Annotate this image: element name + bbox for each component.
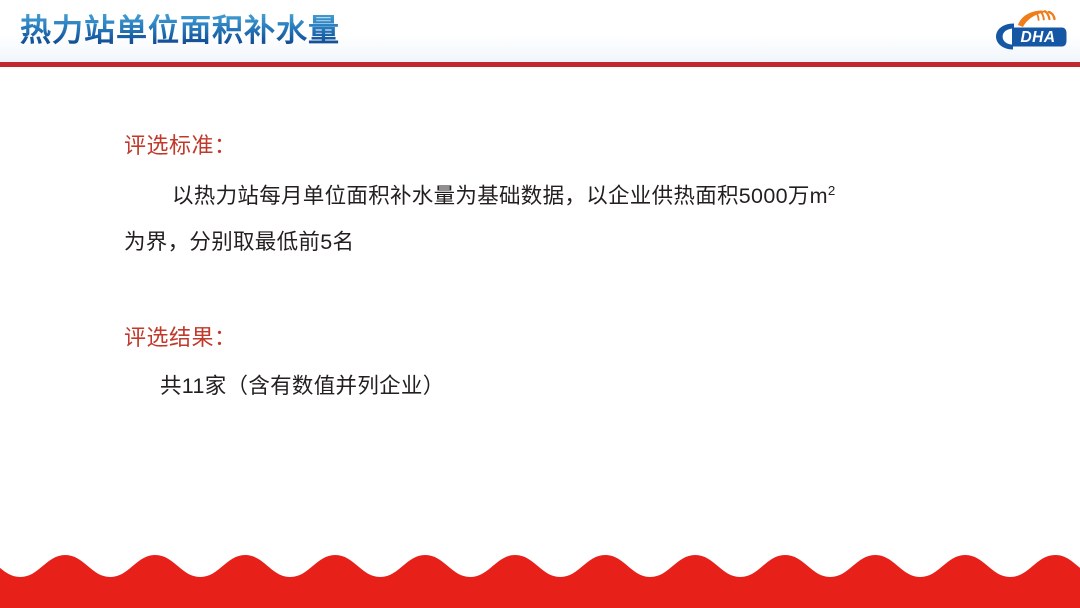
slide-body: 评选标准： 以热力站每月单位面积补水量为基础数据，以企业供热面积5000万m2为… — [0, 63, 1080, 543]
result-heading: 评选结果： — [124, 320, 237, 352]
slide: 热力站单位面积补水量 DHA 评选标准： 以热力站每月单位面 — [0, 0, 1080, 608]
criteria-heading: 评选标准： — [124, 128, 237, 160]
criteria-line-1: 以热力站每月单位面积补水量为基础数据，以企业供热面积5000万m — [172, 184, 828, 208]
result-paragraph: 共11家（含有数值并列企业） — [160, 363, 1040, 409]
page-title: 热力站单位面积补水量 — [20, 10, 340, 52]
criteria-paragraph: 以热力站每月单位面积补水量为基础数据，以企业供热面积5000万m2为界，分别取最… — [124, 173, 1004, 265]
square-unit-superscript: 2 — [828, 183, 836, 198]
dha-logo-icon: DHA — [992, 6, 1070, 54]
slide-header: 热力站单位面积补水量 DHA — [0, 0, 1080, 63]
svg-text:DHA: DHA — [1020, 29, 1055, 46]
criteria-line-2: 为界，分别取最低前5名 — [124, 230, 354, 254]
bottom-wave-decoration — [0, 543, 1080, 608]
